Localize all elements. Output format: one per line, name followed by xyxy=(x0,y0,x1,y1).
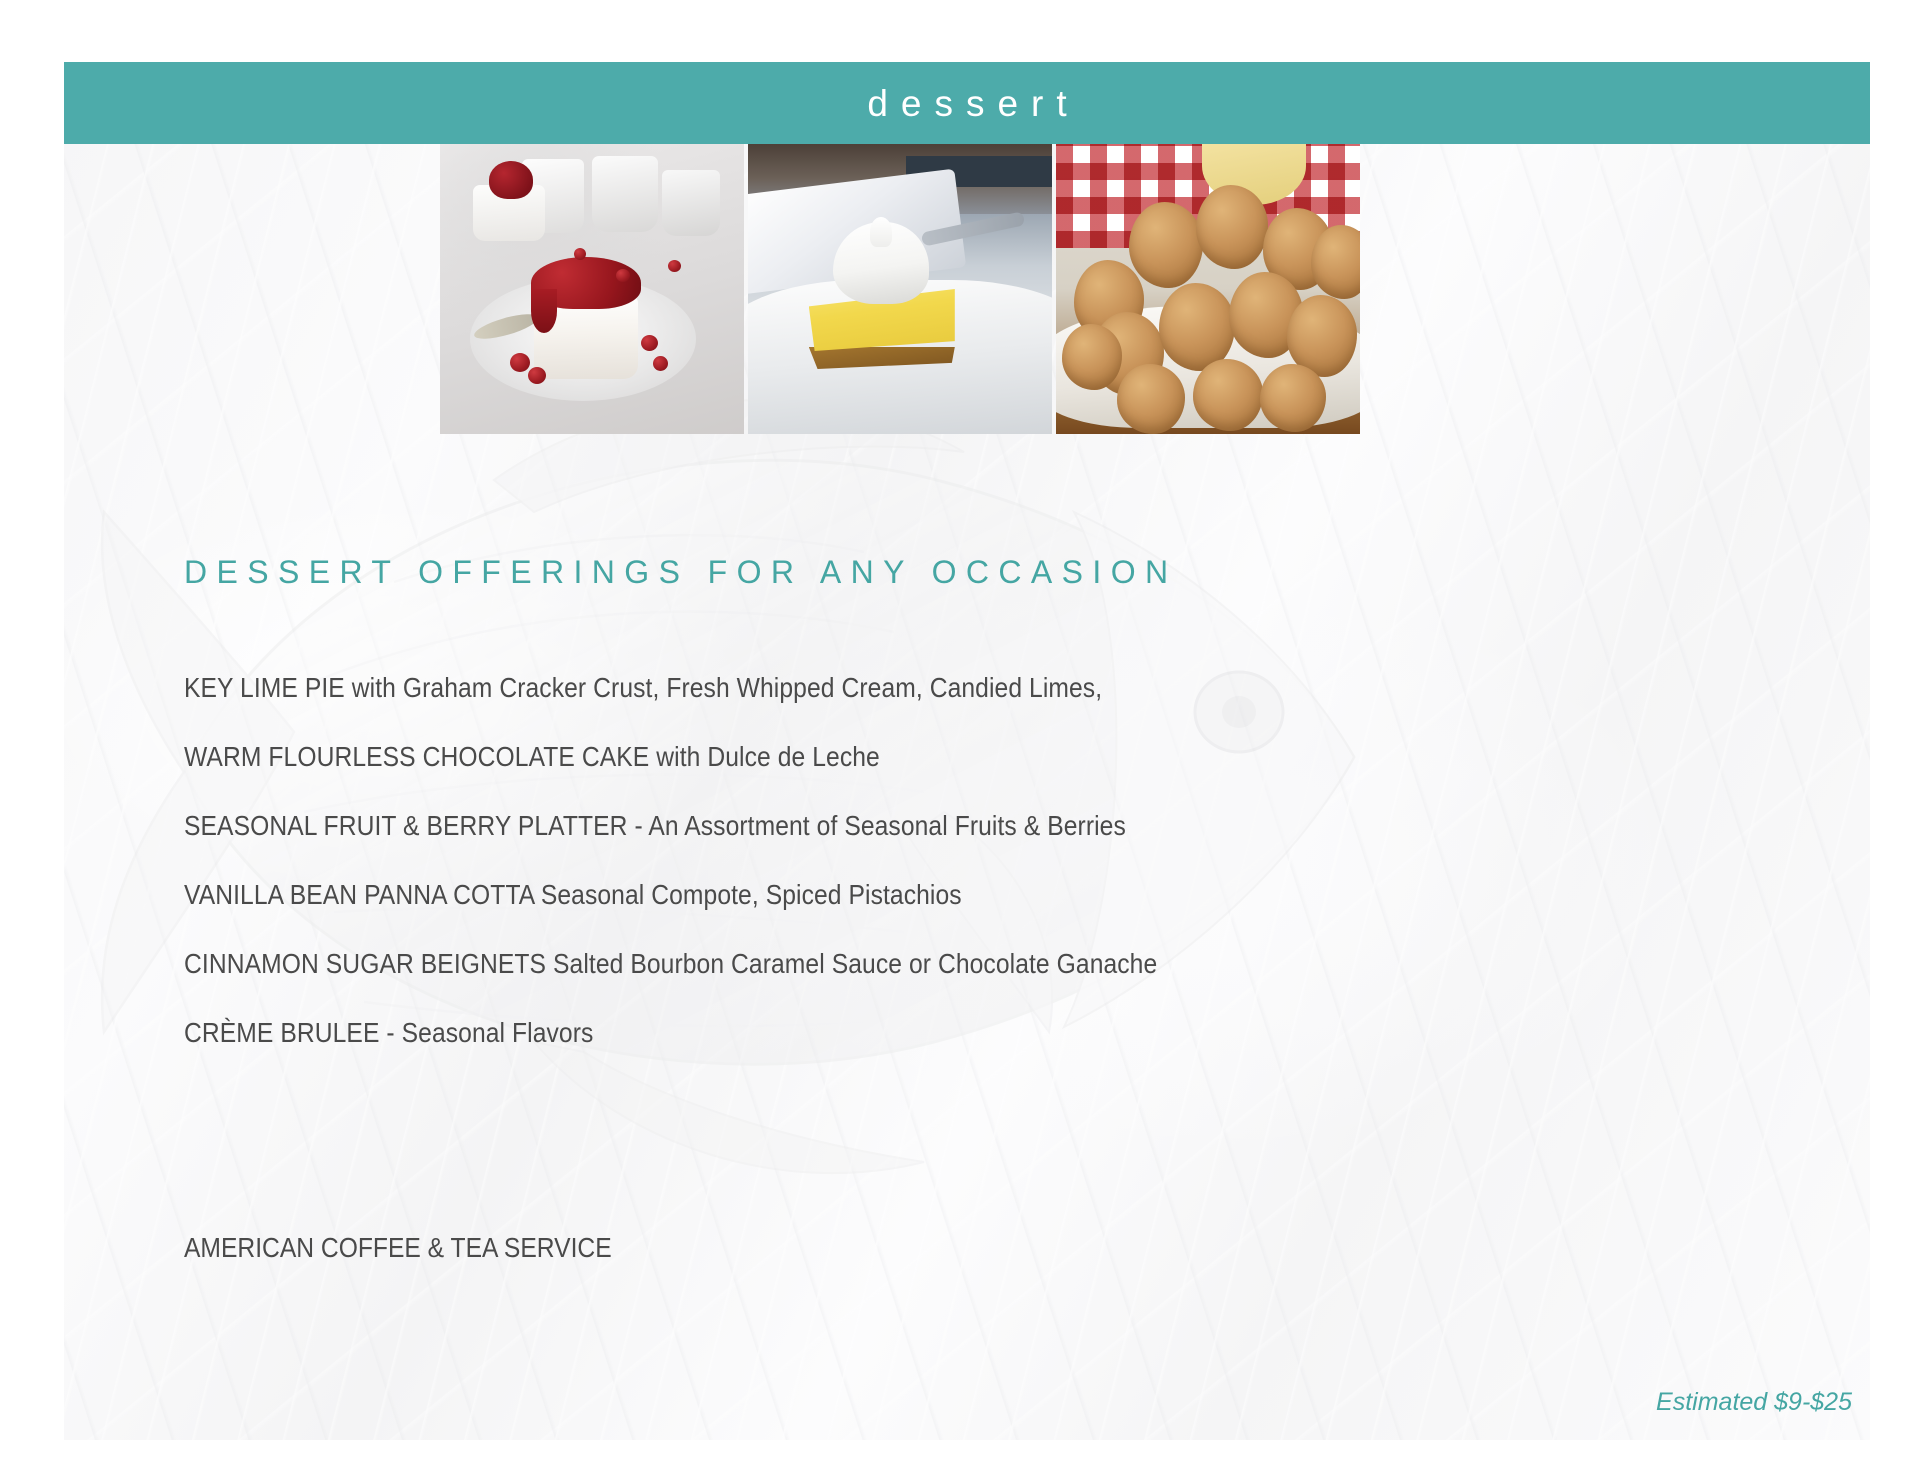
background-cup-icon xyxy=(662,170,720,236)
menu-item: SEASONAL FRUIT & BERRY PLATTER - An Asso… xyxy=(184,812,1328,840)
food-photo-strip xyxy=(440,144,1360,434)
photo-cinnamon-sugar-beignets xyxy=(1056,144,1360,434)
beignet xyxy=(1062,324,1122,390)
banner-title: dessert xyxy=(854,85,1079,122)
background-cup-icon xyxy=(592,156,658,232)
menu-item: VANILLA BEAN PANNA COTTA Seasonal Compot… xyxy=(184,881,1328,909)
beignet xyxy=(1196,185,1268,269)
estimated-price-note: Estimated $9-$25 xyxy=(1656,1388,1852,1417)
beignet xyxy=(1129,202,1203,288)
menu-card: dessert xyxy=(64,62,1870,1440)
berry-sauce-drip xyxy=(531,289,557,333)
beignet xyxy=(1311,225,1360,299)
section-heading: DESSERT OFFERINGS FOR ANY OCCASION xyxy=(184,554,1178,591)
dessert-menu-list: KEY LIME PIE with Graham Cracker Crust, … xyxy=(184,674,1484,1088)
loose-berry xyxy=(641,335,658,351)
dessert-banner: dessert xyxy=(64,62,1870,144)
loose-berry xyxy=(653,356,668,371)
beignet xyxy=(1117,364,1185,434)
coffee-tea-service-item: AMERICAN COFFEE & TEA SERVICE xyxy=(184,1234,612,1262)
beignet xyxy=(1260,364,1326,432)
whipped-cream-peak xyxy=(870,217,892,247)
menu-item: CRÈME BRULEE - Seasonal Flavors xyxy=(184,1019,1328,1047)
beignet xyxy=(1193,359,1263,431)
menu-item: KEY LIME PIE with Graham Cracker Crust, … xyxy=(184,674,1328,702)
background-berry-topping xyxy=(489,161,533,199)
photo-key-lime-pie-slice xyxy=(748,144,1052,434)
menu-item: WARM FLOURLESS CHOCOLATE CAKE with Dulce… xyxy=(184,743,1328,771)
beignet xyxy=(1159,283,1235,371)
loose-berry xyxy=(668,260,681,272)
photo-panna-cotta-with-berries xyxy=(440,144,744,434)
loose-berry xyxy=(616,269,630,282)
loose-berry xyxy=(510,353,530,372)
menu-item: CINNAMON SUGAR BEIGNETS Salted Bourbon C… xyxy=(184,950,1328,978)
menu-page: dessert xyxy=(0,0,1920,1484)
